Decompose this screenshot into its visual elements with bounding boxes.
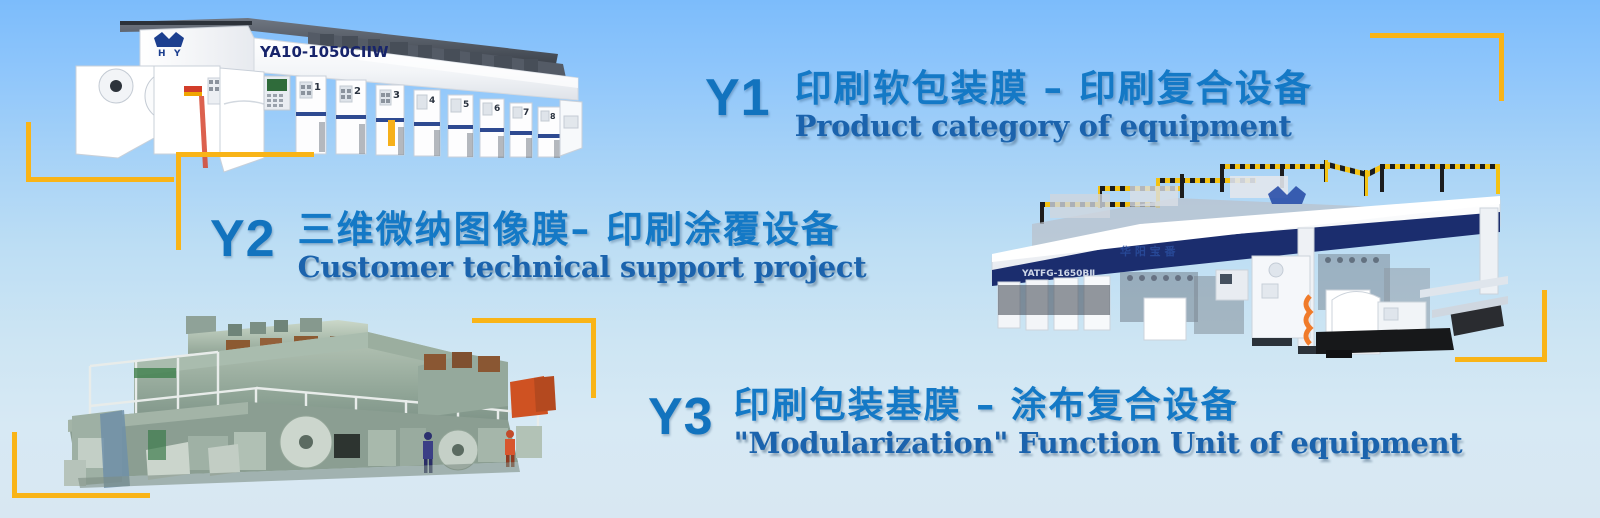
- headline-en-y2: Customer technical support project: [298, 251, 867, 283]
- bracket-middle-right: [1455, 290, 1547, 366]
- bracket-bottom-left: [12, 432, 152, 500]
- svg-text:H: H: [158, 49, 166, 59]
- code-label-y3: Y3: [648, 391, 714, 443]
- headline-cn-y3: 印刷包装基膜 – 涂布复合设备: [734, 385, 1463, 427]
- svg-text:1: 1: [314, 82, 321, 93]
- headline-cn-y2: 三维微纳图像膜– 印刷涂覆设备: [298, 209, 867, 251]
- text-block-y1: 印刷软包装膜 – 印刷复合设备 Product category of equi…: [795, 68, 1313, 142]
- bracket-top-left-horizontal: [26, 177, 174, 182]
- machine-image-coating-laminating-machine: YATFG-1650BⅡ 华 阳 宝 番: [980, 150, 1510, 360]
- svg-text:8: 8: [550, 112, 556, 121]
- headline-cn-y1: 印刷软包装膜 – 印刷复合设备: [795, 68, 1313, 110]
- text-block-y3: 印刷包装基膜 – 涂布复合设备 "Modularization" Functio…: [734, 385, 1463, 459]
- bracket-y2-vertical: [176, 152, 181, 250]
- bracket-bottom-left-vertical: [12, 432, 17, 498]
- text-block-y2: 三维微纳图像膜– 印刷涂覆设备 Customer technical suppo…: [298, 209, 867, 283]
- bracket-middle-right-vertical: [1542, 290, 1547, 362]
- text-row-y1: Y1 印刷软包装膜 – 印刷复合设备 Product category of e…: [705, 68, 1313, 142]
- svg-text:2: 2: [354, 86, 361, 97]
- svg-text:5: 5: [463, 100, 469, 110]
- bracket-bottom-left-horizontal: [12, 493, 150, 498]
- bracket-y3-connector: [472, 318, 598, 400]
- bracket-y2-horizontal: [176, 152, 314, 157]
- svg-text:4: 4: [429, 96, 435, 106]
- headline-en-y3: "Modularization" Function Unit of equipm…: [734, 427, 1463, 459]
- headline-en-y1: Product category of equipment: [795, 110, 1313, 142]
- svg-text:3: 3: [393, 90, 400, 101]
- bracket-top-right-horizontal: [1370, 33, 1504, 38]
- code-label-y1: Y1: [705, 72, 771, 124]
- svg-text:Y: Y: [173, 49, 181, 59]
- bracket-top-right-vertical: [1499, 33, 1504, 101]
- bracket-y3-vertical: [591, 318, 596, 398]
- svg-text:7: 7: [523, 108, 529, 118]
- bracket-top-right: [1370, 33, 1506, 103]
- text-row-y3: Y3 印刷包装基膜 – 涂布复合设备 "Modularization" Func…: [648, 385, 1462, 459]
- machine-model-label: YA10-1050CIIW: [259, 43, 389, 61]
- svg-text:6: 6: [494, 104, 500, 114]
- bracket-y3-horizontal: [472, 318, 596, 323]
- bracket-middle-right-horizontal: [1455, 357, 1547, 362]
- svg-text:华 阳 宝 番: 华 阳 宝 番: [1120, 244, 1176, 258]
- bracket-top-left: [26, 122, 176, 184]
- code-label-y2: Y2: [210, 213, 276, 265]
- bracket-top-left-vertical: [26, 122, 31, 182]
- promo-banner: H Y YA10-1050CIIW: [0, 0, 1600, 518]
- text-row-y2: Y2 三维微纳图像膜– 印刷涂覆设备 Customer technical su…: [210, 209, 866, 283]
